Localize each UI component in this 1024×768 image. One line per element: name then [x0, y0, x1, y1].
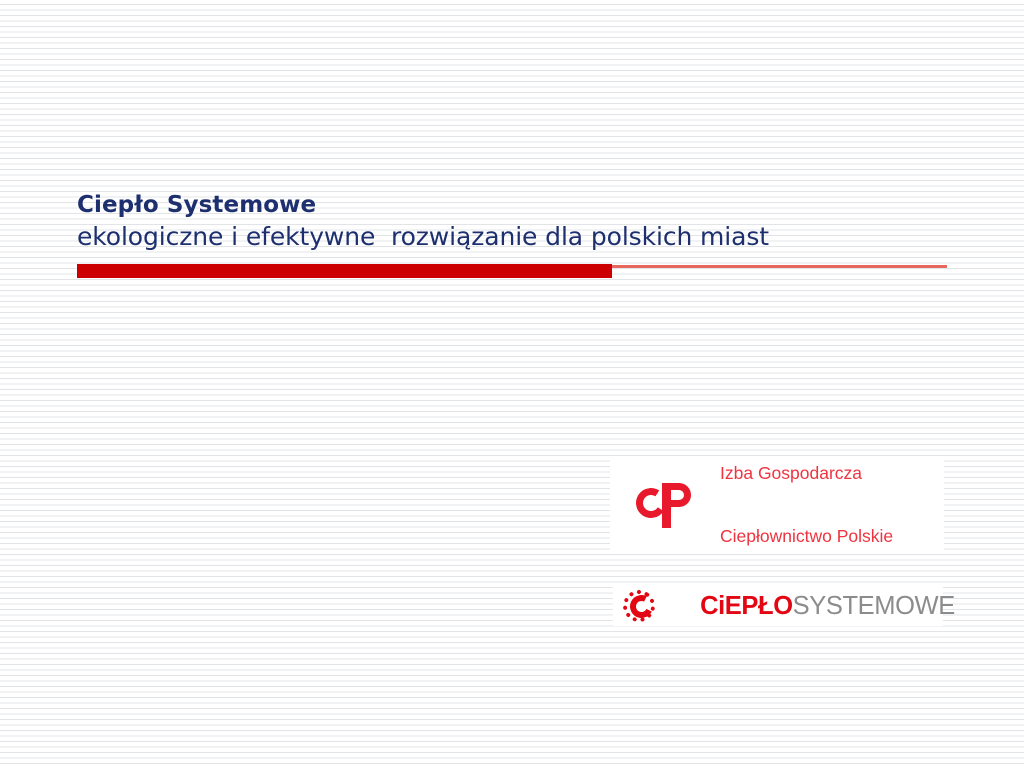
logo-izba-gospodarcza-cieplownictwo-polskie: Izba Gospodarcza Ciepłownictwo Polskie — [610, 457, 944, 553]
cp-monogram-icon — [636, 479, 698, 531]
logo-igcp-line-1: Izba Gospodarcza — [720, 463, 893, 484]
logo-igcp-line-2: Ciepłownictwo Polskie — [720, 526, 893, 547]
thick-red-rule — [77, 264, 612, 278]
cieplo-systemowe-circle-icon — [623, 590, 659, 622]
presentation-slide: Ciepło Systemowe ekologiczne i efektywne… — [0, 0, 1024, 768]
logo-igcp-text: Izba Gospodarcza Ciepłownictwo Polskie — [720, 421, 893, 589]
page-subtitle: ekologiczne i efektywne rozwiązanie dla … — [77, 220, 977, 254]
title-underline-rules — [77, 264, 947, 279]
page-title: Ciepło Systemowe — [77, 190, 977, 220]
wordmark-cieplo: CiEPŁO — [700, 592, 793, 620]
cp-letter-p-bowl-icon — [667, 483, 691, 507]
cieplo-systemowe-wordmark: CiEPŁOSYSTEMOWE — [660, 567, 955, 645]
wordmark-systemowe: SYSTEMOWE — [793, 592, 955, 620]
title-block: Ciepło Systemowe ekologiczne i efektywne… — [77, 190, 977, 254]
logo-cieplo-systemowe: CiEPŁOSYSTEMOWE — [613, 585, 943, 626]
